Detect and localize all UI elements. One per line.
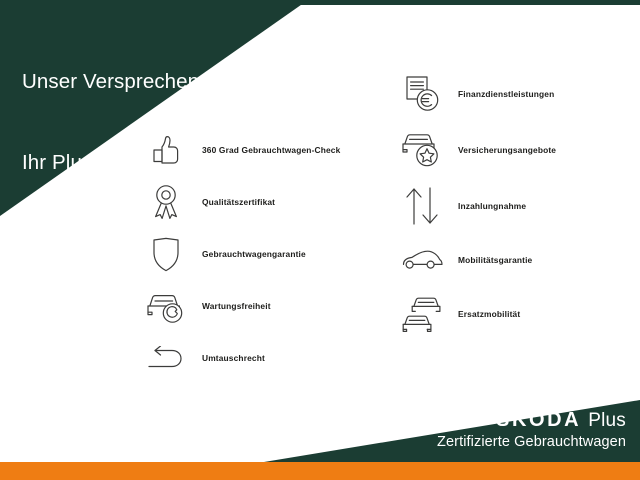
- car-wrench-icon: [140, 283, 192, 329]
- feature-label: Versicherungsangebote: [458, 145, 556, 156]
- feature-label: Inzahlungnahme: [458, 201, 526, 212]
- feature-item-umtauschrecht[interactable]: Umtauschrecht: [140, 332, 380, 384]
- car-side-icon: [396, 237, 448, 283]
- return-arrow-icon: [140, 335, 192, 381]
- feature-label: Umtauschrecht: [202, 353, 265, 364]
- car-star-icon: [396, 127, 448, 173]
- shield-icon: [140, 231, 192, 277]
- feature-item-finanzdienstleistungen[interactable]: Finanzdienstleistungen: [396, 66, 640, 122]
- feature-item-versicherungsangebote[interactable]: Versicherungsangebote: [396, 122, 640, 178]
- feature-item-gebrauchtwagen-check[interactable]: 360 Grad Gebrauchtwagen-Check: [140, 124, 380, 176]
- up-down-arrows-icon: [396, 183, 448, 229]
- brand-plus: Plus: [588, 410, 626, 432]
- feature-label: Finanzdienstleistungen: [458, 89, 554, 100]
- thumbs-up-icon: [140, 127, 192, 173]
- feature-label: Wartungsfreiheit: [202, 301, 271, 312]
- two-cars-icon: [396, 291, 448, 337]
- bottom-orange-bar: [0, 462, 640, 480]
- feature-item-qualitaetszertifikat[interactable]: Qualitätszertifikat: [140, 176, 380, 228]
- feature-list-left: 360 Grad Gebrauchtwagen-Check Qualitätsz…: [140, 124, 380, 384]
- headline-line-1: Unser Versprechen.: [22, 68, 205, 95]
- quality-rosette-icon: [140, 179, 192, 225]
- promo-banner: Unser Versprechen. Ihr Plus. 360 Grad Ge…: [0, 0, 640, 480]
- feature-item-wartungsfreiheit[interactable]: Wartungsfreiheit: [140, 280, 380, 332]
- feature-label: Ersatzmobilität: [458, 309, 520, 320]
- feature-label: Qualitätszertifikat: [202, 197, 275, 208]
- brand-name: SKODA: [496, 409, 581, 431]
- document-euro-icon: [396, 71, 448, 117]
- feature-item-gebrauchtwagengarantie[interactable]: Gebrauchtwagengarantie: [140, 228, 380, 280]
- feature-item-ersatzmobilitaet[interactable]: Ersatzmobilität: [396, 286, 640, 342]
- feature-label: Gebrauchtwagengarantie: [202, 249, 306, 260]
- feature-item-inzahlungnahme[interactable]: Inzahlungnahme: [396, 178, 640, 234]
- feature-item-mobilitaetsgarantie[interactable]: Mobilitätsgarantie: [396, 234, 640, 286]
- feature-label: Mobilitätsgarantie: [458, 255, 532, 266]
- feature-list-right: Finanzdienstleistungen Versicherungsange…: [396, 66, 640, 342]
- brand-tagline: Zertifizierte Gebrauchtwagen: [437, 433, 626, 451]
- feature-label: 360 Grad Gebrauchtwagen-Check: [202, 145, 340, 156]
- brand-logo-top: SKODA Plus: [437, 409, 626, 432]
- brand-logo: SKODA Plus Zertifizierte Gebrauchtwagen: [437, 409, 626, 451]
